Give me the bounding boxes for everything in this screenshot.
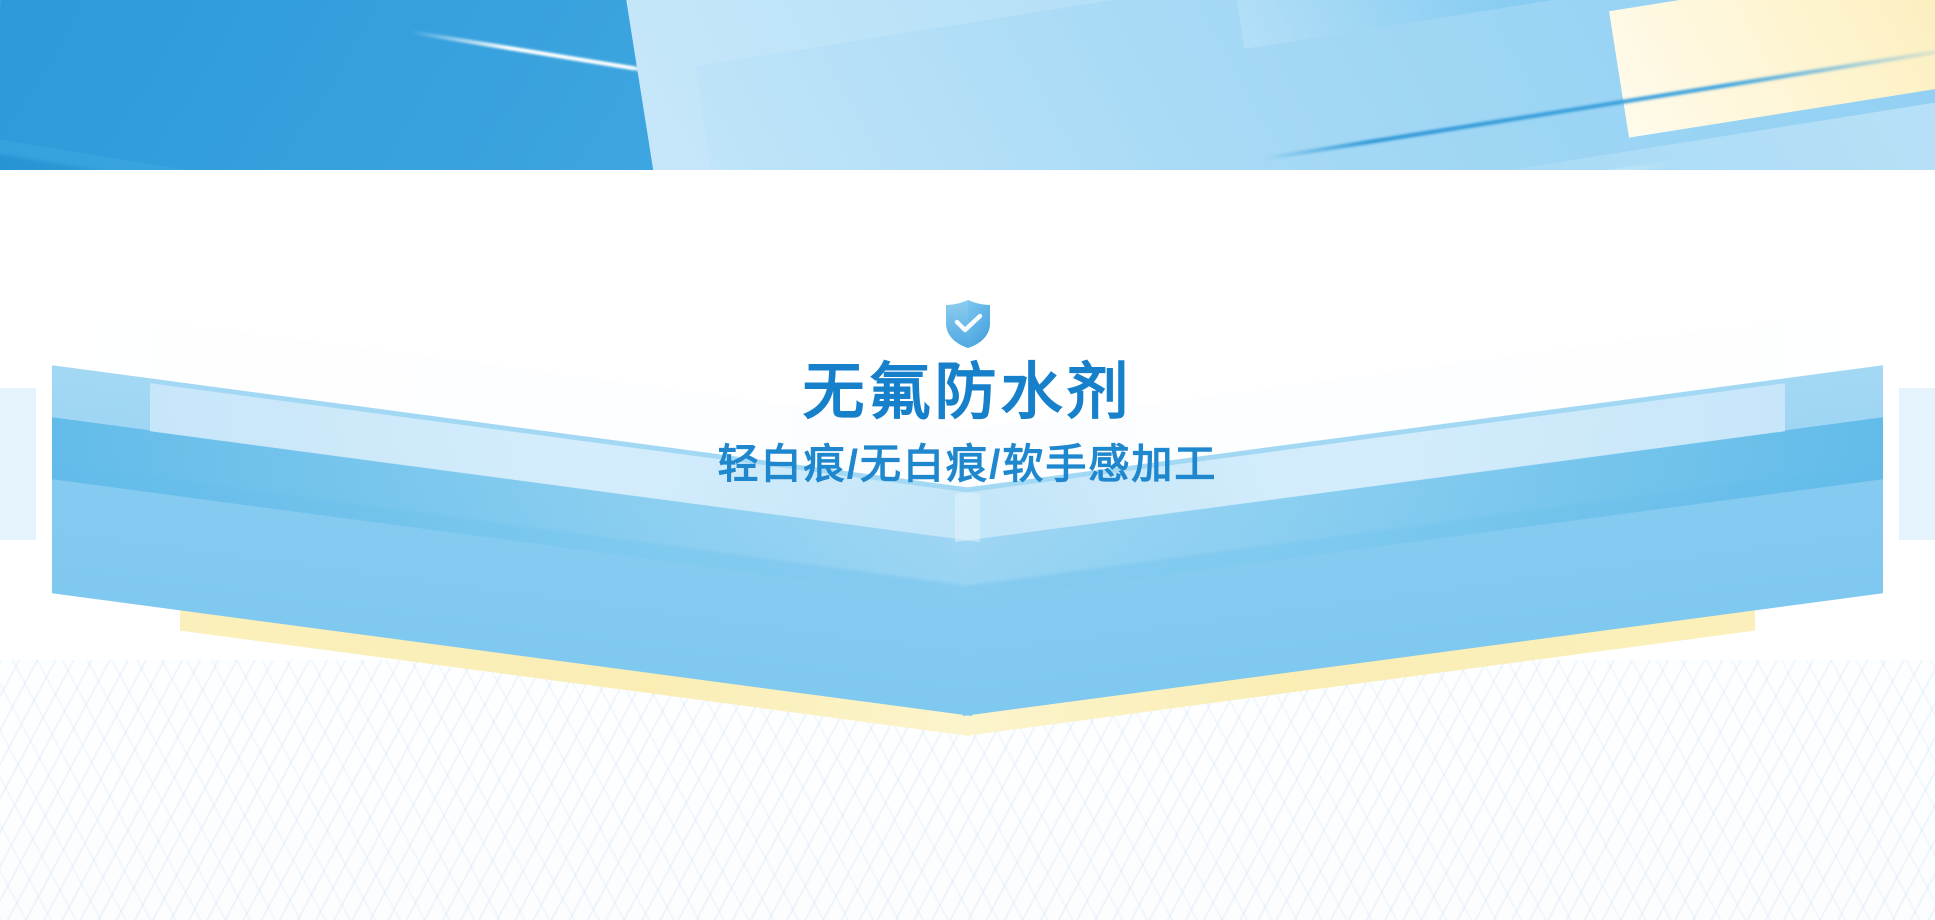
left-pale-accent-bar	[0, 388, 36, 540]
right-pale-accent-bar	[1899, 388, 1935, 540]
banner-subtitle: 轻白痕/无白痕/软手感加工	[718, 441, 1218, 488]
banner-title: 无氟防水剂	[802, 359, 1132, 427]
product-hero-banner: 无氟防水剂 轻白痕/无白痕/软手感加工	[0, 0, 1935, 920]
shield-check-icon	[939, 297, 997, 351]
